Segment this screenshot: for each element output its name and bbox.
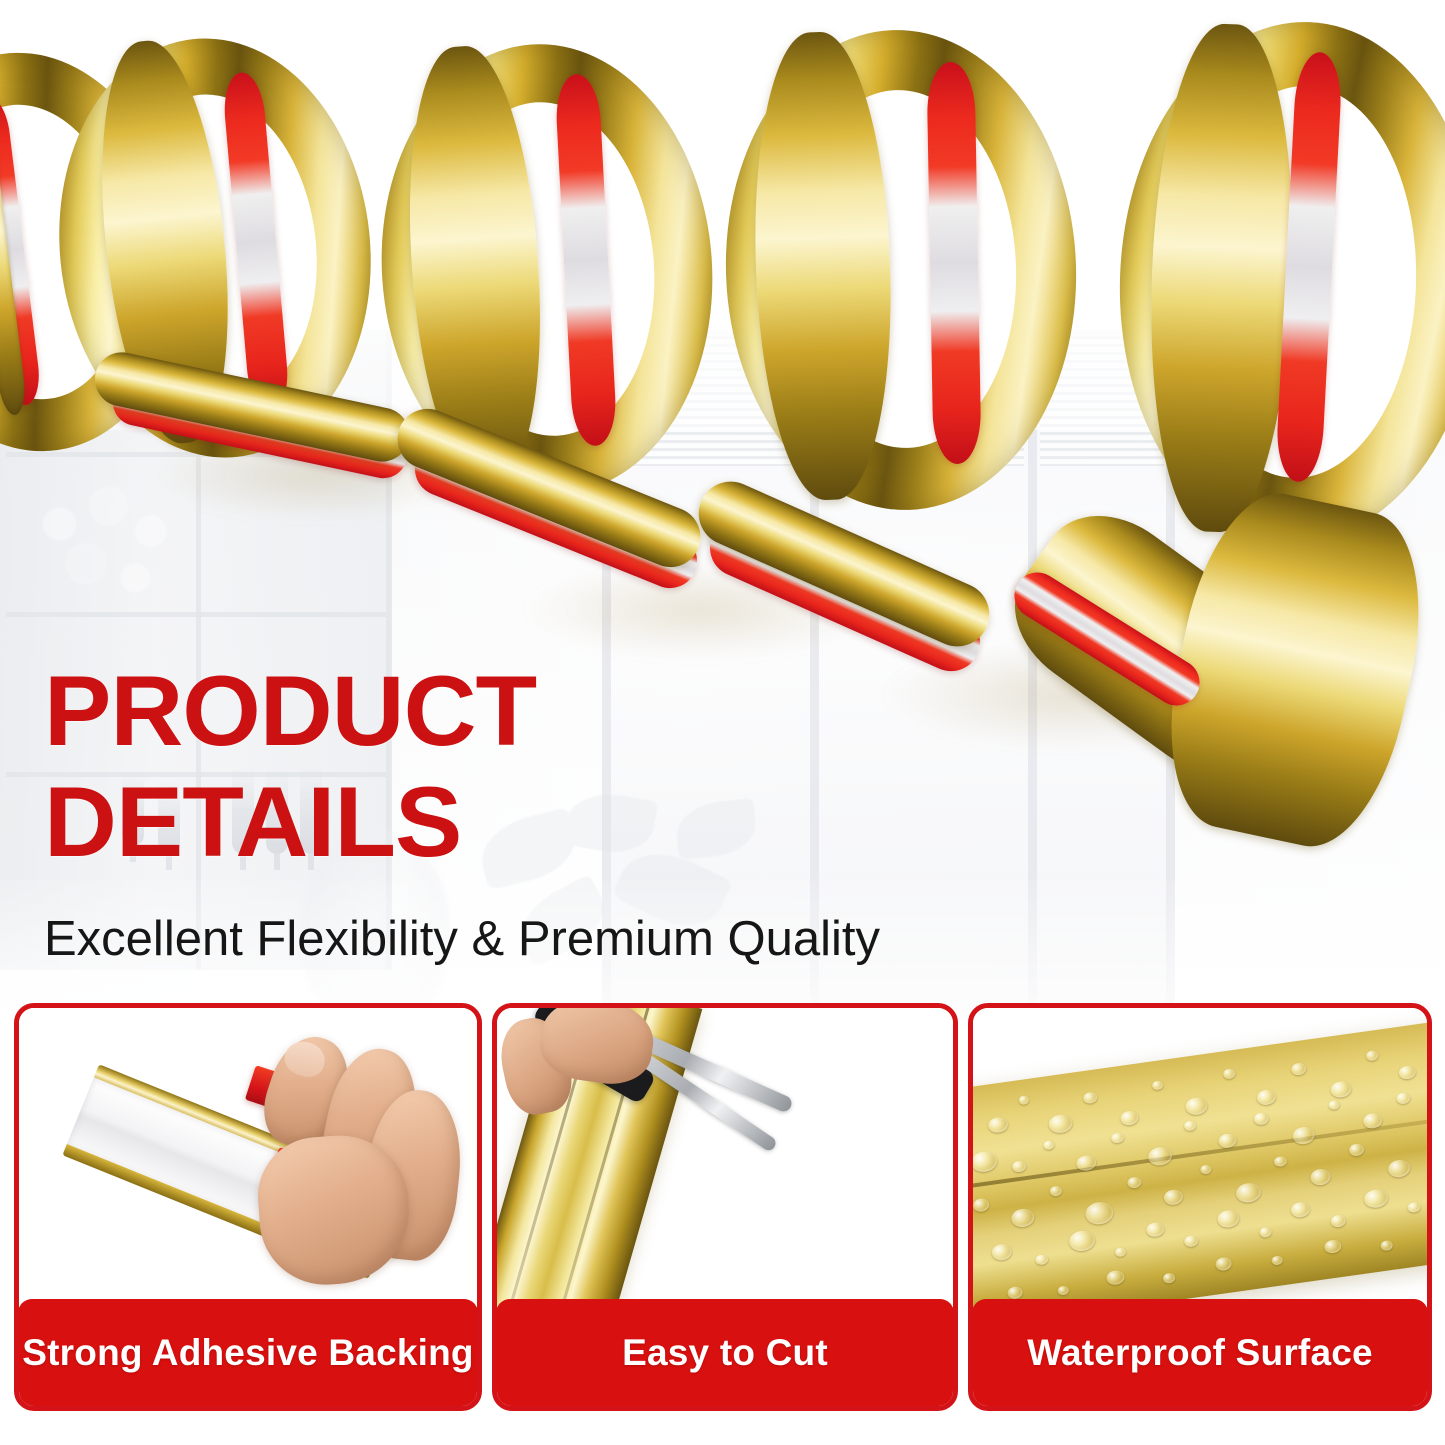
hand-illustration: [241, 1032, 451, 1282]
card-image-scissors-cutting: [497, 1008, 953, 1316]
card-image-hand-peeling-liner: [19, 1008, 477, 1316]
card-caption-text: Strong Adhesive Backing: [22, 1332, 473, 1374]
feature-card-easy-to-cut[interactable]: Easy to Cut: [492, 1003, 958, 1411]
card-caption-text: Easy to Cut: [622, 1332, 828, 1374]
feature-card-strong-adhesive-backing[interactable]: Strong Adhesive Backing: [14, 1003, 482, 1411]
card-caption-bar: Strong Adhesive Backing: [18, 1299, 478, 1407]
water-droplets: [973, 1019, 1427, 1316]
card-caption-bar: Waterproof Surface: [972, 1299, 1428, 1407]
page-subtitle: Excellent Flexibility & Premium Quality: [44, 913, 1194, 967]
card-caption-bar: Easy to Cut: [496, 1299, 954, 1407]
page-title: PRODUCT DETAILS: [44, 663, 804, 869]
title-line-1: PRODUCT: [44, 663, 819, 758]
title-line-2: DETAILS: [44, 774, 819, 869]
product-details-infographic: PRODUCT DETAILS Excellent Flexibility & …: [0, 0, 1445, 1445]
gold-tape-wet-illustration: [973, 1019, 1427, 1316]
feature-card-row: Strong Adhesive Backing Easy to Cut: [0, 1003, 1445, 1423]
feature-card-waterproof-surface[interactable]: Waterproof Surface: [968, 1003, 1432, 1411]
tape-adhesive-strip: [926, 62, 981, 465]
card-caption-text: Waterproof Surface: [1027, 1332, 1373, 1374]
card-image-water-droplets: [973, 1008, 1427, 1316]
